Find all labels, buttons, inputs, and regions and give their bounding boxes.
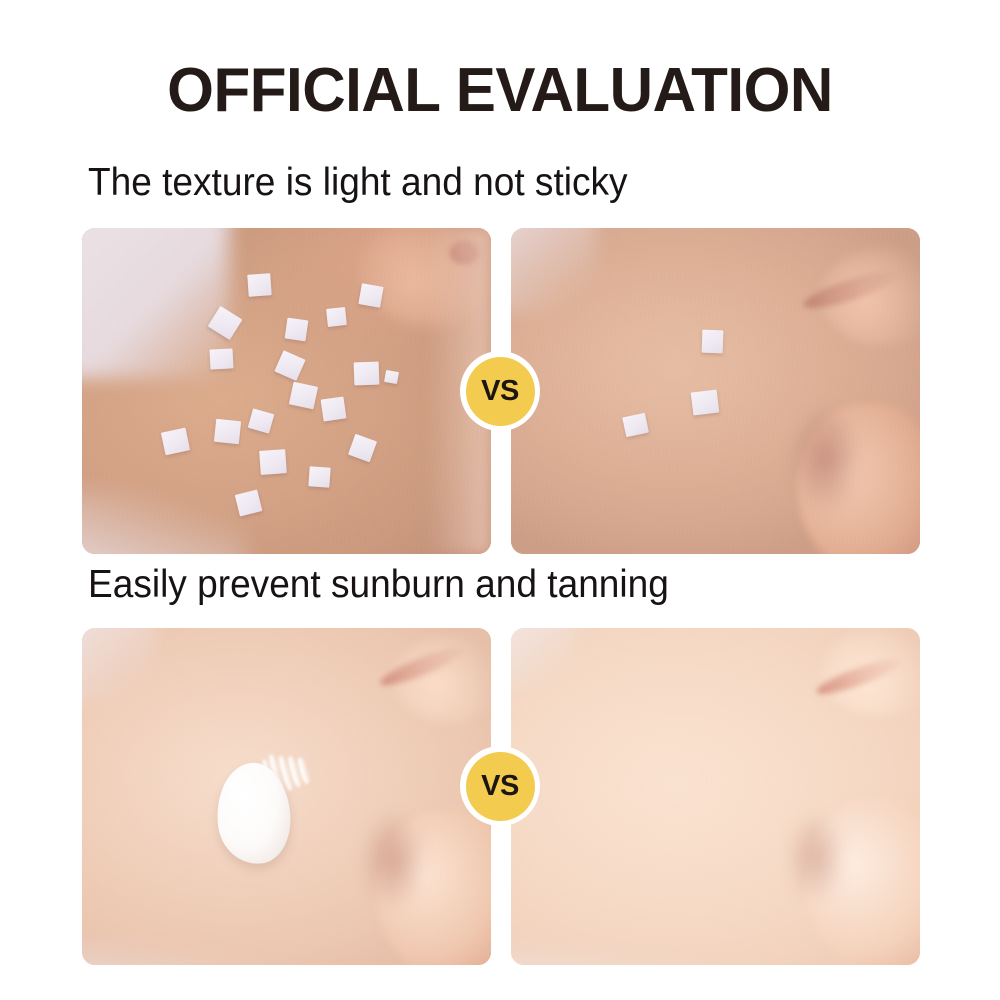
paper-chip: [308, 467, 331, 489]
section-heading-texture: The texture is light and not sticky: [88, 163, 628, 202]
marketing-image: OFFICIAL EVALUATION The texture is light…: [0, 0, 1000, 1000]
photo-panel-sunburn-before: [82, 628, 491, 965]
cream-swatch: [217, 749, 315, 864]
section-heading-sunburn: Easily prevent sunburn and tanning: [88, 565, 669, 604]
paper-chip: [701, 329, 723, 353]
skin-grain: [82, 228, 491, 554]
photo-panel-texture-before: [82, 228, 491, 554]
vs-badge-disc: VS: [466, 357, 535, 426]
vs-badge-disc: VS: [466, 752, 535, 821]
paper-chip: [209, 348, 233, 369]
paper-chip: [247, 273, 271, 297]
paper-chip: [326, 307, 347, 327]
paper-chip: [260, 449, 288, 475]
paper-chip: [690, 389, 719, 415]
hand-skin-image: [511, 628, 920, 965]
photo-panel-texture-after: [511, 228, 920, 554]
vs-badge-label: VS: [481, 772, 519, 801]
skin-grain: [511, 628, 920, 965]
hand-skin-image: [82, 228, 491, 554]
vs-badge-texture: VS: [460, 351, 540, 431]
paper-chip: [214, 419, 242, 445]
paper-chip: [358, 284, 383, 308]
page-title: OFFICIAL EVALUATION: [15, 60, 985, 122]
paper-chip: [354, 361, 380, 385]
photo-panel-sunburn-after: [511, 628, 920, 965]
paper-chip: [321, 396, 347, 420]
vs-badge-sunburn: VS: [460, 746, 540, 826]
vs-badge-label: VS: [481, 377, 519, 406]
paper-chip: [284, 318, 308, 342]
